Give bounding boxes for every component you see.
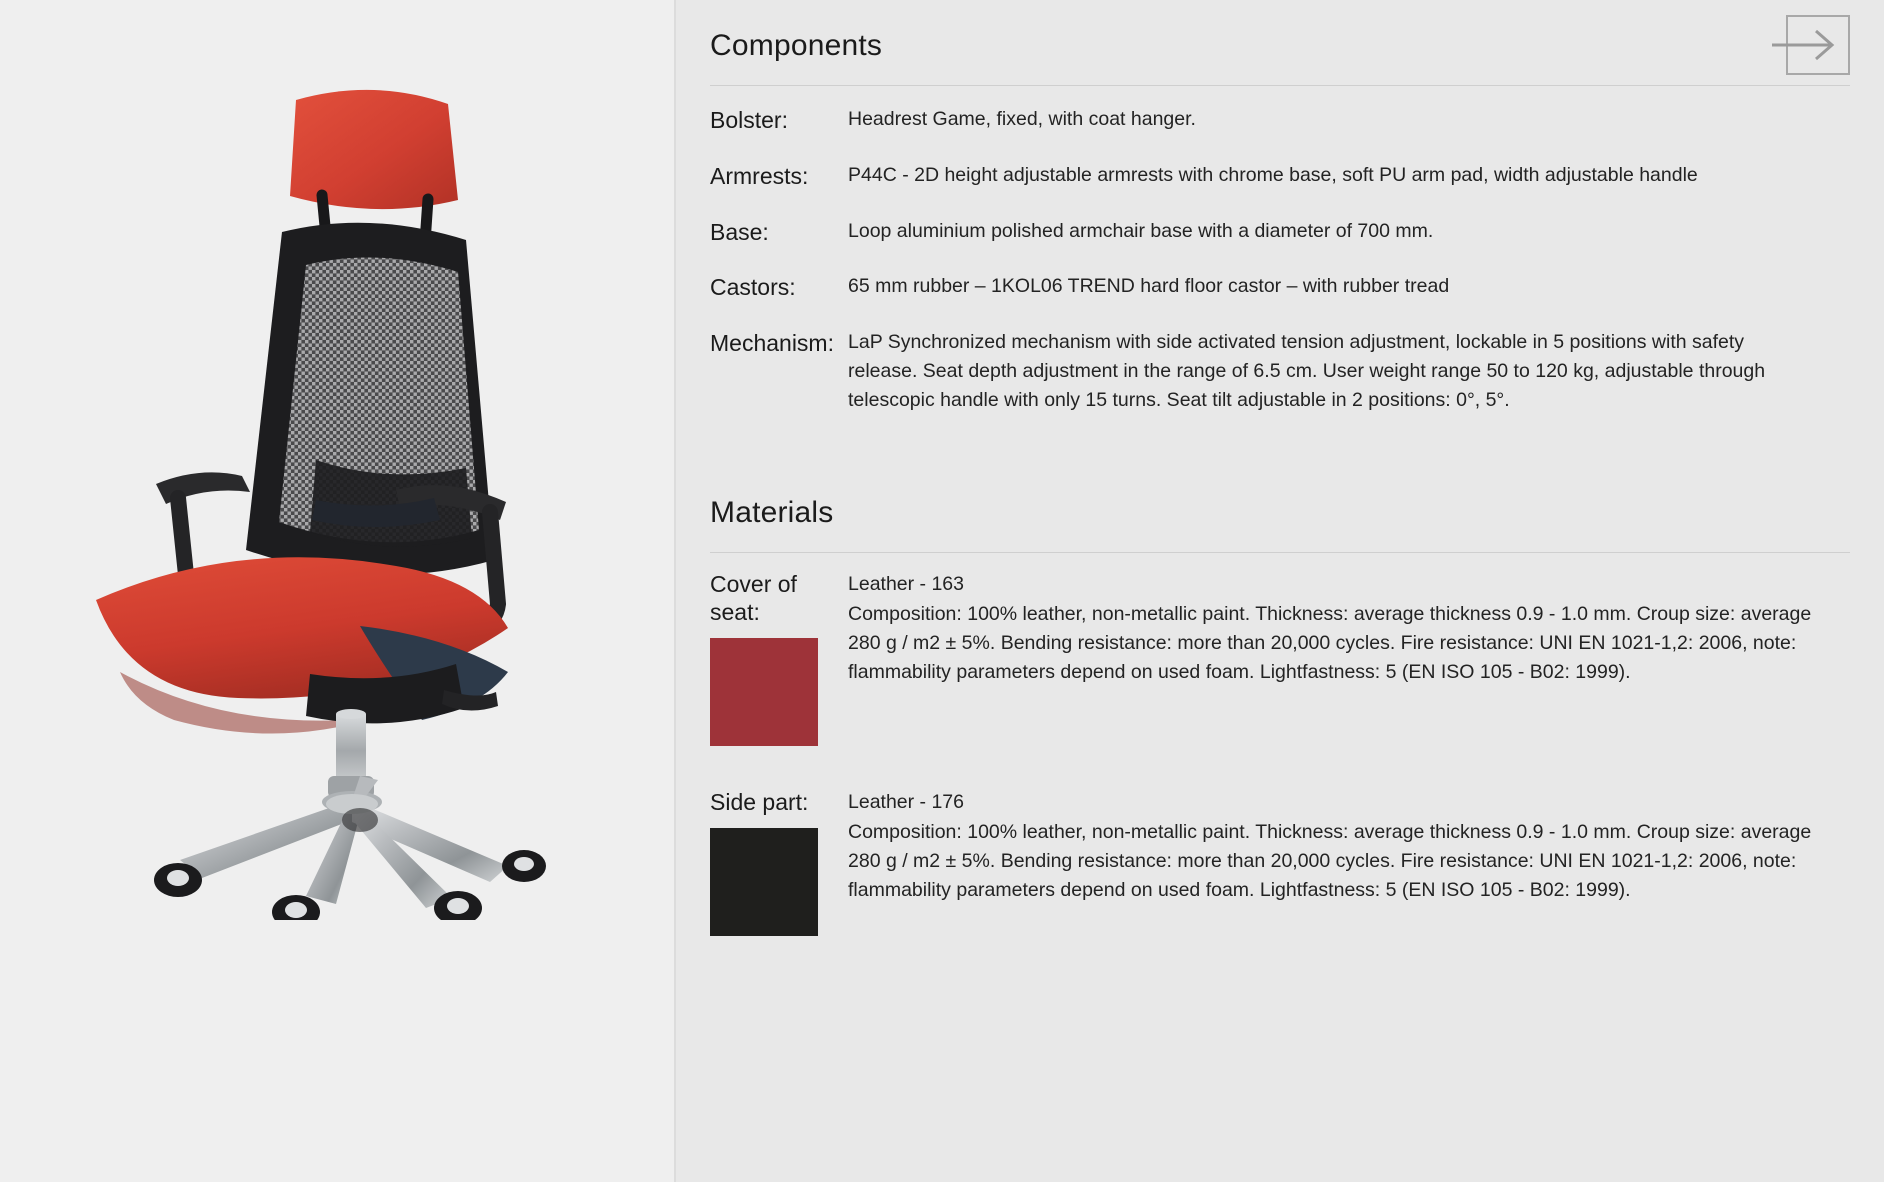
components-rule: [710, 85, 1850, 86]
spec-label-armrests: Armrests:: [710, 161, 848, 191]
material-left-side-part: Side part:: [710, 788, 848, 936]
components-section: Components: [710, 29, 1850, 86]
material-body-cover-of-seat: Leather - 163 Composition: 100% leather,…: [848, 570, 1813, 687]
materials-rule: [710, 552, 1850, 553]
product-image-panel: [0, 0, 676, 1182]
material-name-side-part: Leather - 176: [848, 788, 1813, 816]
components-rows: Bolster: Headrest Game, fixed, with coat…: [710, 105, 1850, 415]
materials-title: Materials: [710, 496, 1850, 530]
spec-value-bolster: Headrest Game, fixed, with coat hanger.: [848, 105, 1808, 134]
spec-label-castors: Castors:: [710, 272, 848, 302]
chair-render: [0, 0, 676, 1182]
material-body-side-part: Leather - 176 Composition: 100% leather,…: [848, 788, 1813, 905]
spec-label-mechanism: Mechanism:: [710, 328, 848, 358]
spec-row-mechanism: Mechanism: LaP Synchronized mechanism wi…: [710, 328, 1850, 415]
color-swatch-side-part[interactable]: [710, 828, 818, 936]
specification-panel: Components Bolster: Headrest Game, fixed…: [676, 0, 1884, 1182]
components-title: Components: [710, 29, 1850, 63]
material-description-cover-of-seat: Composition: 100% leather, non-metallic …: [848, 600, 1813, 687]
spec-row-armrests: Armrests: P44C - 2D height adjustable ar…: [710, 161, 1850, 191]
material-item-cover-of-seat: Cover of seat: Leather - 163 Composition…: [710, 570, 1850, 746]
spec-value-armrests: P44C - 2D height adjustable armrests wit…: [848, 161, 1808, 190]
material-item-side-part: Side part: Leather - 176 Composition: 10…: [710, 788, 1850, 936]
material-label-side-part: Side part:: [710, 788, 848, 816]
spec-value-castors: 65 mm rubber – 1KOL06 TREND hard floor c…: [848, 272, 1808, 301]
spec-row-base: Base: Loop aluminium polished armchair b…: [710, 217, 1850, 247]
material-left-cover-of-seat: Cover of seat:: [710, 570, 848, 746]
spec-row-castors: Castors: 65 mm rubber – 1KOL06 TREND har…: [710, 272, 1850, 302]
product-spec-page: Components Bolster: Headrest Game, fixed…: [0, 0, 1884, 1182]
color-swatch-cover-of-seat[interactable]: [710, 638, 818, 746]
material-name-cover-of-seat: Leather - 163: [848, 570, 1813, 598]
office-chair-illustration: [60, 60, 620, 920]
spec-label-bolster: Bolster:: [710, 105, 848, 135]
materials-section: Materials: [710, 496, 1850, 553]
spec-label-base: Base:: [710, 217, 848, 247]
materials-rows: Cover of seat: Leather - 163 Composition…: [710, 570, 1850, 936]
chair-base: [180, 776, 508, 908]
spec-value-mechanism: LaP Synchronized mechanism with side act…: [848, 328, 1808, 415]
material-description-side-part: Composition: 100% leather, non-metallic …: [848, 818, 1813, 905]
spec-row-bolster: Bolster: Headrest Game, fixed, with coat…: [710, 105, 1850, 135]
spec-value-base: Loop aluminium polished armchair base wi…: [848, 217, 1808, 246]
material-label-cover-of-seat: Cover of seat:: [710, 570, 848, 626]
